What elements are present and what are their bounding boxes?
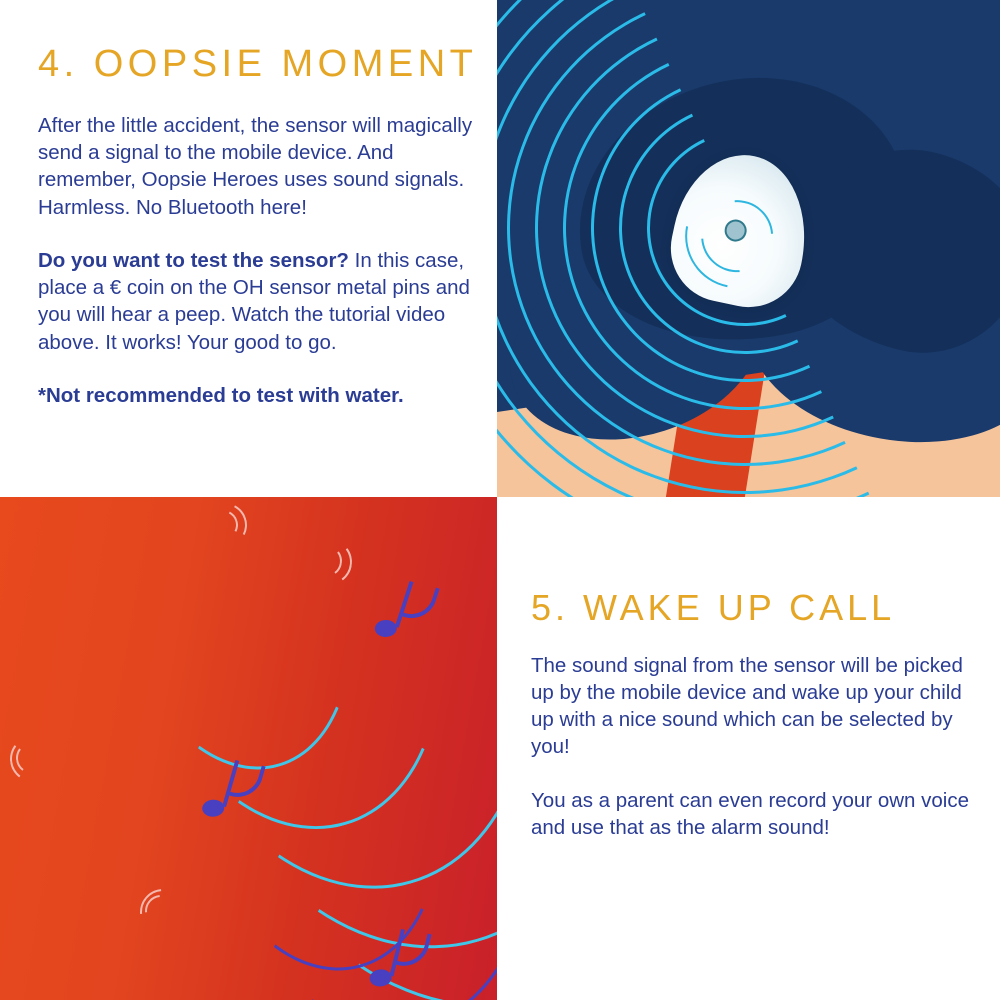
vibration-arc-bottom-2 (131, 880, 196, 945)
step-four-footnote: *Not recommended to test with water. (38, 382, 404, 409)
vibration-arc-top-2 (197, 497, 252, 552)
vibration-arc-left-2 (7, 733, 59, 785)
panel-step-five: 5. WAKE UP CALL The sound signal from th… (497, 497, 1000, 1000)
sensor-illustration-stage (497, 0, 1000, 497)
step-five-paragraph-1: The sound signal from the sensor will be… (531, 652, 981, 761)
step-four-text-block: 4. OOPSIE MOMENT After the little accide… (38, 44, 478, 382)
vibration-arc-right-2 (303, 536, 355, 588)
sensor-illustration-panel (497, 0, 1000, 497)
page-title-step-five: 5. WAKE UP CALL (531, 588, 981, 628)
step-four-paragraph-1: After the little accident, the sensor wi… (38, 112, 478, 221)
step-four-lead-in: Do you want to test the sensor? (38, 249, 349, 272)
step-five-text-block: 5. WAKE UP CALL The sound signal from th… (531, 588, 981, 841)
panel-step-four: 4. OOPSIE MOMENT After the little accide… (0, 0, 497, 497)
phone-illustration-panel: Oopsie Heroes (0, 497, 497, 1000)
page-title-step-four: 4. OOPSIE MOMENT (38, 44, 478, 86)
phone-layer: Oopsie Heroes (0, 497, 497, 1000)
step-five-paragraph-2: You as a parent can even record your own… (531, 787, 981, 842)
poster-page: 4. OOPSIE MOMENT After the little accide… (0, 0, 1000, 1000)
step-four-paragraph-2: Do you want to test the sensor? In this … (38, 247, 478, 356)
